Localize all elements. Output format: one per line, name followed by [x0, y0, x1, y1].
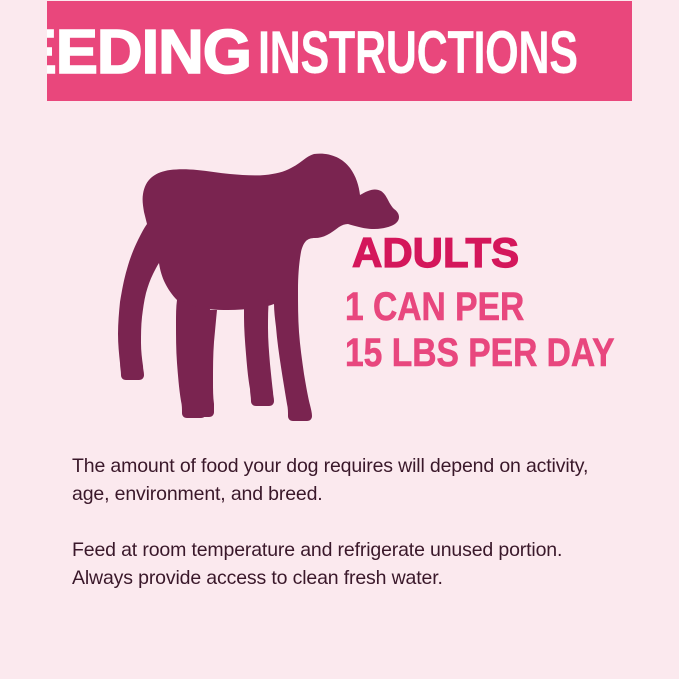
feeding-instructions-page: FEEDING INSTRUCTIONS ADULTS 1 CAN PER 15… — [0, 0, 679, 679]
body-paragraph-2: Feed at room temperature and refrigerate… — [72, 536, 617, 592]
banner-title-bold: FEEDING — [47, 22, 251, 84]
body-paragraph-1: The amount of food your dog requires wil… — [72, 452, 617, 508]
header-banner: FEEDING INSTRUCTIONS — [47, 1, 632, 101]
banner-title: FEEDING INSTRUCTIONS — [47, 22, 632, 84]
body-copy: The amount of food your dog requires wil… — [72, 452, 617, 592]
callout-line-2: 15 LBS PER DAY — [345, 330, 589, 376]
callout-heading: ADULTS — [352, 232, 635, 274]
callout-line-1: 1 CAN PER — [345, 284, 589, 330]
adults-callout: ADULTS 1 CAN PER 15 LBS PER DAY — [345, 232, 635, 377]
banner-title-light: INSTRUCTIONS — [258, 23, 578, 83]
